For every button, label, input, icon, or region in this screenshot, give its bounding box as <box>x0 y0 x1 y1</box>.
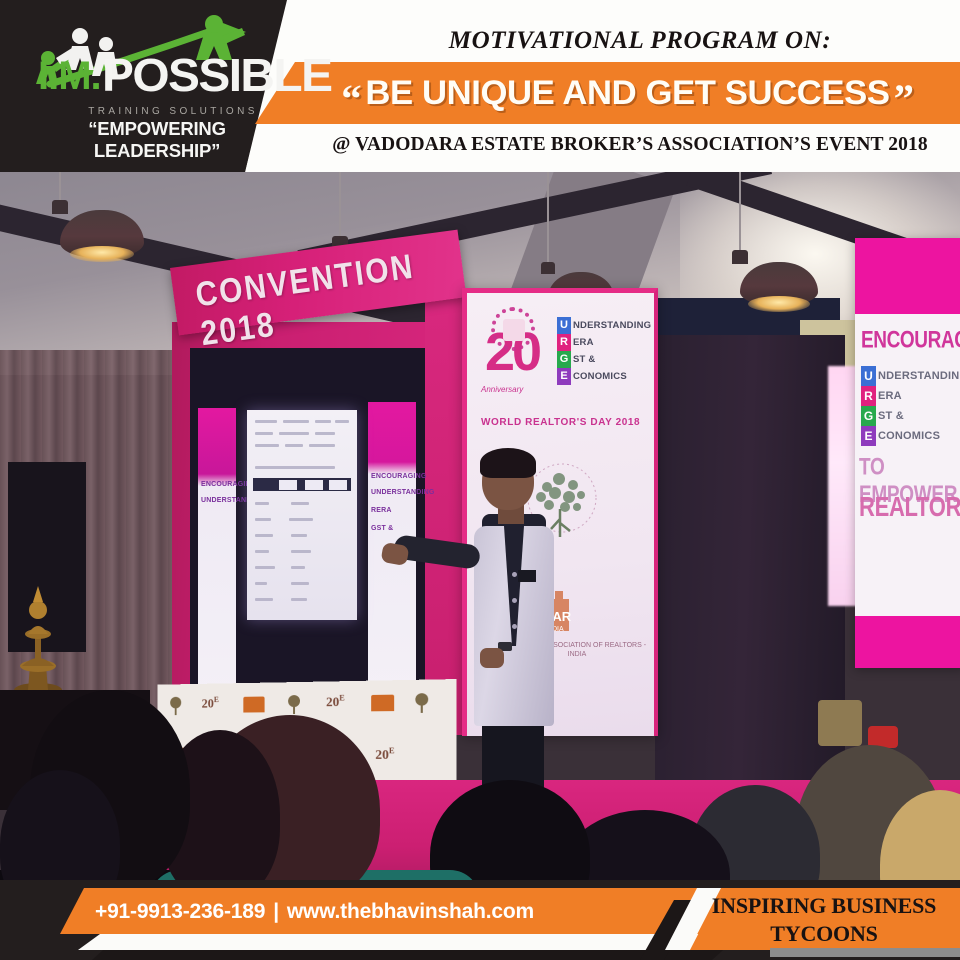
world-realtors-day-text: WORLD REALTOR'S DAY 2018 <box>481 417 640 428</box>
urge-word-gst: ST & <box>573 351 651 368</box>
urge-word-understanding: NDERSTANDING <box>573 317 651 334</box>
header-subtitle: @ VADODARA ESTATE BROKER’S ASSOCIATION’S… <box>310 130 950 160</box>
speaker-hair <box>480 448 536 478</box>
urge-letter-r: R <box>557 334 571 351</box>
right-word-gst: ST & <box>878 406 960 426</box>
urge-letter-e: E <box>557 368 571 385</box>
brass-oil-lamp <box>10 574 66 699</box>
footer-tagline: INSPIRING BUSINESS TYCOONS <box>690 892 958 948</box>
footer-separator: | <box>273 900 279 924</box>
right-urge-u: U <box>861 366 876 386</box>
brand-logo: I.M. POSSIBLE TRAINING SOLUTIONS “EMPOWE… <box>14 14 276 139</box>
stage-prop-drum <box>818 700 862 746</box>
booth-side-panel-left: ENCOURAGING UNDERSTANDING <box>198 408 236 708</box>
logo-possible-text: POSSIBLE <box>102 48 331 102</box>
right-banner-line1: ENCOURAGING <box>861 327 960 355</box>
right-banner-line3: REALTORS <box>859 491 960 524</box>
speaker-button-1 <box>512 572 517 577</box>
right-word-economics: CONOMICS <box>878 426 960 446</box>
logo-im-text: I.M. <box>38 54 101 99</box>
speaker-pocket-square <box>518 570 536 582</box>
footer-contact-group: +91-9913-236-189 | www.thebhavinshah.com <box>95 896 675 928</box>
right-banner-bottom-block <box>855 616 960 668</box>
right-urge-e: E <box>861 426 876 446</box>
logo-slogan: “EMPOWERING LEADERSHIP” <box>32 118 282 162</box>
right-urge-letter-column: U R G E <box>861 366 876 446</box>
poster-header: MOTIVATIONAL PROGRAM ON: “BE UNIQUE AND … <box>0 0 960 172</box>
right-urge-r: R <box>861 386 876 406</box>
anniversary-badge <box>503 319 525 341</box>
brass-lamp-svg <box>10 574 66 699</box>
urge-word-column: NDERSTANDING ERA ST & CONOMICS <box>573 317 651 385</box>
right-curtain <box>655 335 845 805</box>
right-word-understanding: NDERSTANDING <box>878 366 960 386</box>
right-urge-word-column: NDERSTANDING ERA ST & CONOMICS <box>878 366 960 446</box>
promo-poster: CONVENTION 2018 ENCOURAGING UNDERSTANDIN… <box>0 0 960 960</box>
right-urge-g: G <box>861 406 876 426</box>
right-banner-top-block <box>855 238 960 314</box>
right-standee-banner: ENCOURAGING U R G E NDERSTANDING ERA ST … <box>855 238 960 668</box>
footer-phone[interactable]: +91-9913-236-189 <box>95 900 265 924</box>
speaker-button-2 <box>512 598 517 603</box>
right-word-rera: ERA <box>878 386 960 406</box>
footer-grey-accent <box>770 948 960 957</box>
logo-wordmark: I.M. POSSIBLE <box>14 46 276 102</box>
footer-website[interactable]: www.thebhavinshah.com <box>287 900 534 924</box>
footer-tagline-line2: TYCOONS <box>690 920 958 948</box>
urge-letter-u: U <box>557 317 571 334</box>
footer-white-stripe <box>78 934 738 950</box>
speaker-button-3 <box>512 624 517 629</box>
urge-letter-column: U R G E <box>557 317 571 385</box>
poster-footer: +91-9913-236-189 | www.thebhavinshah.com… <box>0 880 960 960</box>
footer-tagline-line1: INSPIRING BUSINESS <box>690 892 958 920</box>
speaker-clicker-hand <box>480 648 504 668</box>
event-photo: CONVENTION 2018 ENCOURAGING UNDERSTANDIN… <box>0 170 960 892</box>
urge-word-economics: CONOMICS <box>573 368 651 385</box>
anniversary-label: Anniversary <box>481 385 523 394</box>
header-top-line: MOTIVATIONAL PROGRAM ON: <box>330 24 950 58</box>
logo-tagline: TRAINING SOLUTIONS <box>70 106 276 117</box>
headline-text: BE UNIQUE AND GET SUCCESS <box>365 74 889 113</box>
header-headline: “BE UNIQUE AND GET SUCCESS” <box>293 66 960 120</box>
urge-word-rera: ERA <box>573 334 651 351</box>
urge-letter-g: G <box>557 351 571 368</box>
projected-slide <box>247 410 357 620</box>
